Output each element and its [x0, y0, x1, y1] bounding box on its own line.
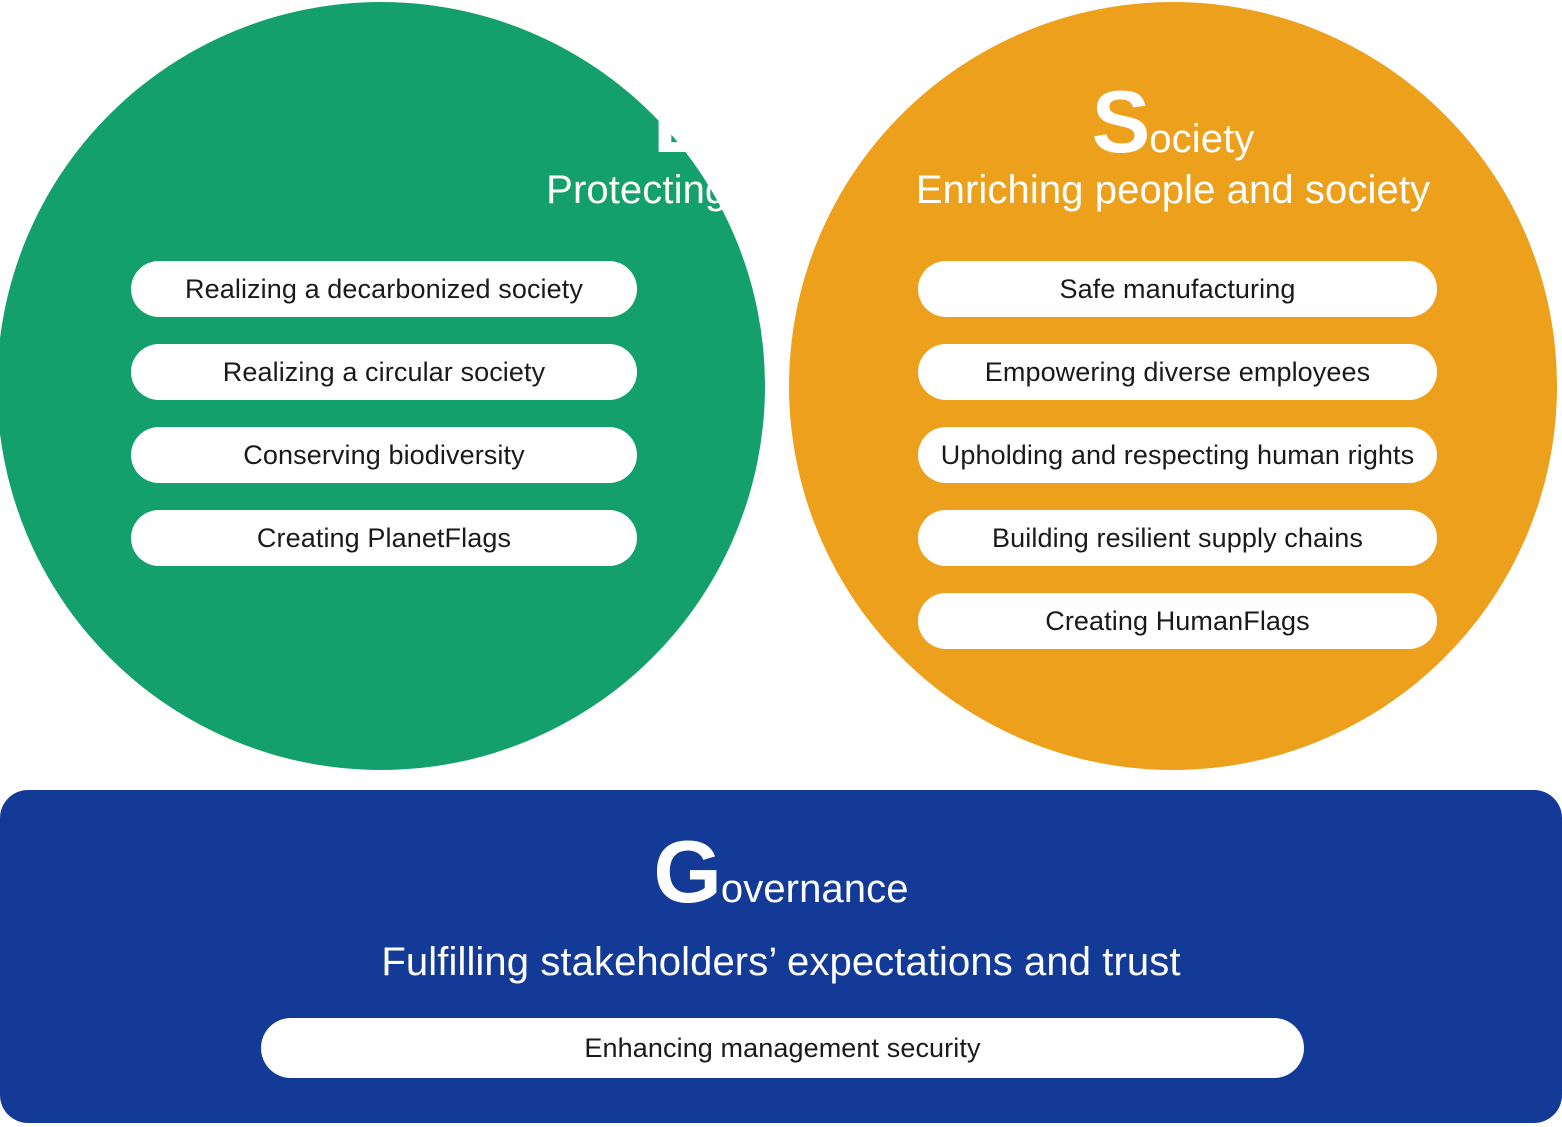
society-item[interactable]: Upholding and respecting human rights [918, 427, 1437, 483]
governance-heading: Governance [0, 828, 1562, 916]
environment-item-list: Realizing a decarbonized society Realizi… [131, 261, 637, 566]
society-item[interactable]: Building resilient supply chains [918, 510, 1437, 566]
governance-initial-letter: G [653, 822, 720, 921]
governance-word-rest: overnance [721, 867, 909, 911]
environment-item[interactable]: Realizing a decarbonized society [131, 261, 637, 317]
society-item[interactable]: Safe manufacturing [918, 261, 1437, 317]
esg-diagram: Environment Protecting the future Earth … [0, 0, 1562, 1127]
society-item-list: Safe manufacturing Empowering diverse em… [918, 261, 1437, 649]
environment-initial-letter: E [653, 72, 711, 171]
environment-item[interactable]: Realizing a circular society [131, 344, 637, 400]
governance-tagline: Fulfilling stakeholders’ expectations an… [0, 942, 1562, 982]
society-item[interactable]: Creating HumanFlags [918, 593, 1437, 649]
society-initial-letter: S [1092, 72, 1150, 171]
society-word-rest: ociety [1149, 117, 1254, 161]
society-heading: Society [789, 78, 1557, 166]
society-item[interactable]: Empowering diverse employees [918, 344, 1437, 400]
environment-item[interactable]: Conserving biodiversity [131, 427, 637, 483]
environment-item[interactable]: Creating PlanetFlags [131, 510, 637, 566]
society-tagline: Enriching people and society [789, 170, 1557, 210]
governance-item[interactable]: Enhancing management security [261, 1018, 1304, 1078]
